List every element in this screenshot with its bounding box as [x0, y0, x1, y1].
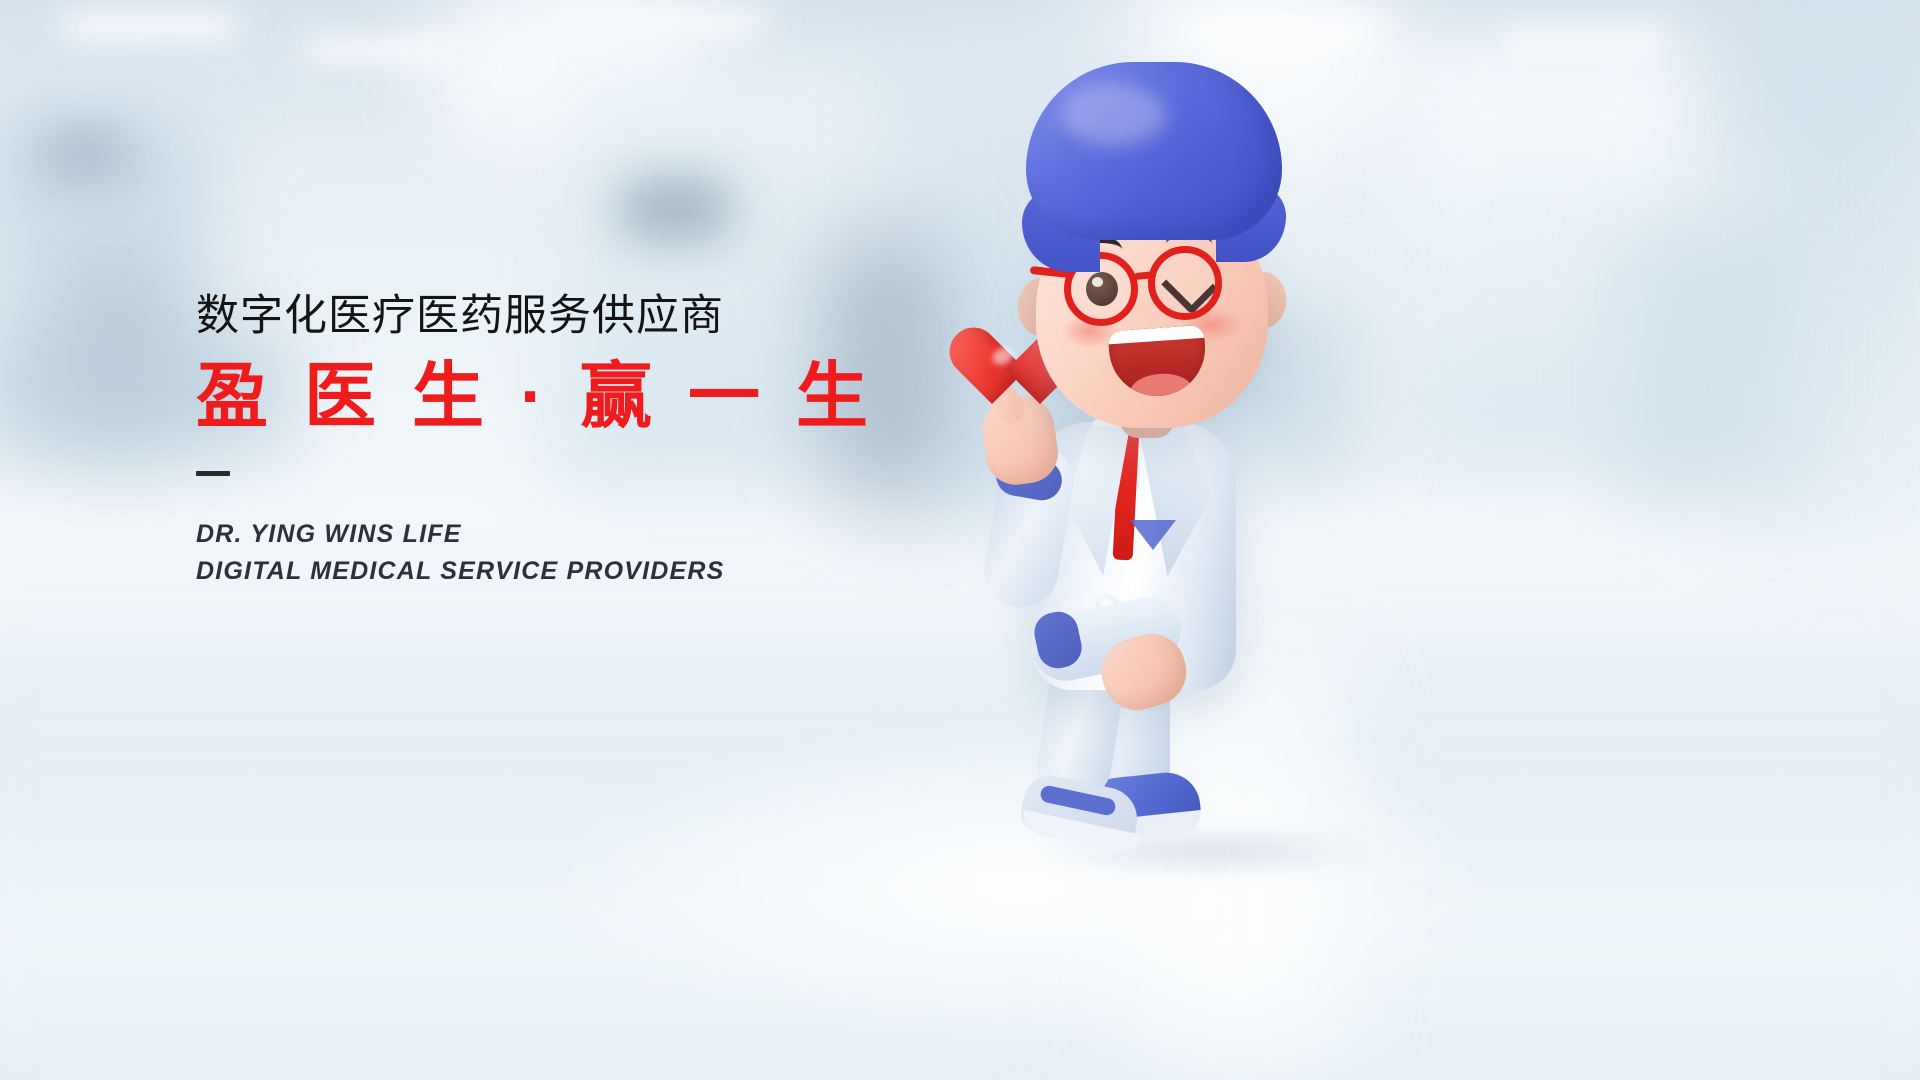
hero-english-block: DR. YING WINS LIFE DIGITAL MEDICAL SERVI… [196, 516, 956, 589]
equipment-block-right [1620, 220, 1800, 500]
hero-banner: 数字化医疗医药服务供应商 盈 医 生 · 赢 一 生 DR. YING WINS… [0, 0, 1920, 1080]
ceiling-lamp-1 [60, 14, 240, 40]
glasses-lens-right [1148, 246, 1222, 320]
surgical-cap [1026, 62, 1282, 240]
cap-highlight [1062, 84, 1166, 146]
hero-subtitle: 数字化医疗医药服务供应商 [196, 292, 956, 340]
heart-highlight [990, 344, 1017, 368]
english-tagline-secondary: DIGITAL MEDICAL SERVICE PROVIDERS [196, 553, 956, 589]
dark-sign-center [620, 180, 730, 238]
dark-sign-upper-left [40, 130, 130, 174]
hero-copy: 数字化医疗医药服务供应商 盈 医 生 · 赢 一 生 DR. YING WINS… [196, 292, 956, 589]
hero-headline: 盈 医 生 · 赢 一 生 [196, 358, 956, 437]
doctor-mascot [970, 40, 1390, 860]
divider-dash [196, 471, 230, 476]
english-tagline-primary: DR. YING WINS LIFE [196, 516, 956, 552]
